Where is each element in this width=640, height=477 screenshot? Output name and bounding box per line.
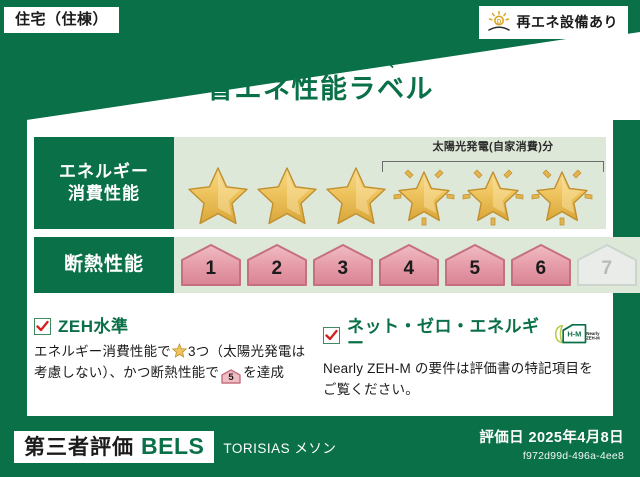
star-sparkle-icon xyxy=(461,164,525,226)
insulation-grade-value: 4 xyxy=(403,258,414,287)
nzeb-note-body: Nearly ZEH-M の要件は評価書の特記項目をご覧ください。 xyxy=(323,359,600,401)
insulation-grade-7: 7 xyxy=(576,243,638,287)
zeh-note: ZEH水準 エネルギー消費性能で3つ（太陽光発電は考慮しない）、かつ断熱性能で5… xyxy=(34,318,323,401)
insulation-grade-2: 2 xyxy=(246,243,308,287)
energy-label-line2: 消費性能 xyxy=(68,183,140,205)
energy-performance-label: エネルギー 消費性能 xyxy=(34,137,174,229)
checkbox-checked-icon xyxy=(34,318,51,335)
energy-stars-area: 太陽光発電(自家消費)分 xyxy=(174,137,606,229)
zeh-note-body: エネルギー消費性能で3つ（太陽光発電は考慮しない）、かつ断熱性能で5を達成 xyxy=(34,342,311,384)
star-1 xyxy=(184,154,252,226)
sun-icon: D xyxy=(486,10,512,34)
star-icon xyxy=(324,164,388,226)
evaluation-date: 評価日 2025年4月8日 xyxy=(479,431,624,447)
insulation-grade-5: 5 xyxy=(444,243,506,287)
star-icon xyxy=(186,164,250,226)
energy-label-line1: エネルギー xyxy=(59,161,149,183)
insulation-grade-value: 5 xyxy=(469,258,480,287)
insulation-grade-value: 7 xyxy=(601,258,612,287)
owner-name: TORISIAS メソン xyxy=(223,437,336,457)
insulation-grade-value: 1 xyxy=(205,258,216,287)
insulation-label-text: 断熱性能 xyxy=(64,253,144,277)
bels-label: BELS xyxy=(141,435,204,458)
insulation-grade-6: 6 xyxy=(510,243,572,287)
energy-performance-row: エネルギー 消費性能 太陽光発電(自家消費)分 xyxy=(34,137,606,229)
inline-house-value: 5 xyxy=(221,369,241,386)
star-3 xyxy=(322,154,390,226)
nzeb-note-header: ネット・ゼロ・エネルギー H-M Nearly ZEH-M xyxy=(323,318,600,352)
ratings-section: エネルギー 消費性能 太陽光発電(自家消費)分 xyxy=(34,137,606,293)
third-party-label: 第三者評価 xyxy=(24,437,134,458)
footer-bar: 第三者評価 BELS TORISIAS メソン 評価日 2025年4月8日 f9… xyxy=(0,416,640,477)
bels-certification-badge: 第三者評価 BELS xyxy=(14,431,214,463)
solar-bracket-line xyxy=(382,161,604,172)
insulation-grades-area: 1 2 3 xyxy=(174,237,640,293)
star-sparkle-icon xyxy=(530,164,594,226)
label-heading: 建築物省エネ法に基づく 省エネ性能ラベル xyxy=(0,56,640,103)
evaluation-date-label: 評価日 xyxy=(479,430,524,446)
insulation-performance-row: 断熱性能 1 xyxy=(34,237,606,293)
energy-performance-label: 住宅（住棟） D 再エネ設備あり 建築物省エネ法に基づく 省エネ性能ラベル xyxy=(0,0,640,477)
svg-text:ZEH-M: ZEH-M xyxy=(586,336,600,341)
zeh-note-header: ZEH水準 xyxy=(34,318,311,335)
zeh-m-logo-icon: H-M Nearly ZEH-M xyxy=(552,322,600,348)
insulation-grade-4: 4 xyxy=(378,243,440,287)
insulation-grade-scale: 1 2 3 xyxy=(180,243,638,287)
insulation-grade-1: 1 xyxy=(180,243,242,287)
star-sparkle-icon xyxy=(392,164,456,226)
footer-right-info: 評価日 2025年4月8日 f972d99d-496a-4ee8 xyxy=(479,431,624,462)
checkbox-checked-icon xyxy=(323,327,340,344)
evaluation-date-value: 2025年4月8日 xyxy=(529,430,625,446)
page-title: 省エネ性能ラベル xyxy=(0,76,640,103)
zeh-note-title: ZEH水準 xyxy=(58,318,129,335)
star-icon xyxy=(255,164,319,226)
nzeb-note: ネット・ゼロ・エネルギー H-M Nearly ZEH-M Nearly ZEH… xyxy=(323,318,612,401)
renewable-energy-badge: D 再エネ設備あり xyxy=(479,6,629,39)
insulation-grade-value: 3 xyxy=(337,258,348,287)
zeh-text-part1: エネルギー消費性能で xyxy=(34,344,171,359)
nzeb-note-title: ネット・ゼロ・エネルギー xyxy=(347,318,543,352)
zeh-text-part3: を達成 xyxy=(243,365,284,380)
notes-section: ZEH水準 エネルギー消費性能で3つ（太陽光発電は考慮しない）、かつ断熱性能で5… xyxy=(34,318,612,401)
house-icon-inline: 5 xyxy=(221,369,241,384)
svg-text:H-M: H-M xyxy=(567,329,581,338)
insulation-performance-label: 断熱性能 xyxy=(34,237,174,293)
insulation-grade-3: 3 xyxy=(312,243,374,287)
renewable-badge-label: 再エネ設備あり xyxy=(517,15,619,29)
star-icon-inline xyxy=(172,343,187,358)
svg-text:D: D xyxy=(496,19,501,25)
heading-subtitle: 建築物省エネ法に基づく xyxy=(0,56,640,69)
building-type-tag: 住宅（住棟） xyxy=(4,7,119,33)
star-2 xyxy=(253,154,321,226)
insulation-grade-value: 2 xyxy=(271,258,282,287)
insulation-grade-value: 6 xyxy=(535,258,546,287)
solar-bracket-label: 太陽光発電(自家消費)分 xyxy=(382,142,604,153)
document-id: f972d99d-496a-4ee8 xyxy=(479,450,624,462)
